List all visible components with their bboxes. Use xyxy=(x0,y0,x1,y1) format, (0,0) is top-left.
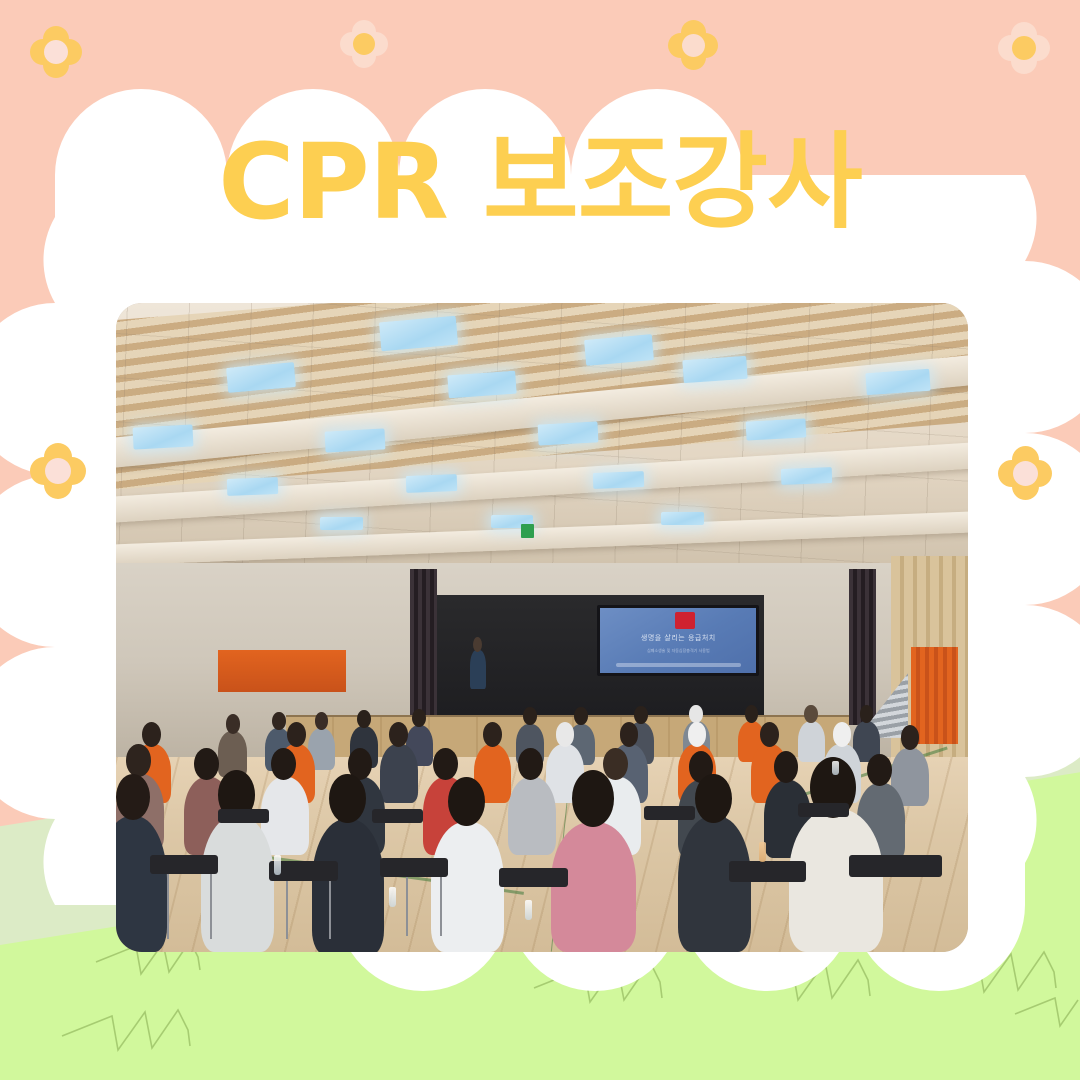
attendee-head xyxy=(433,748,458,780)
cpr-lecture-hall-photo: 생명을 살리는 응급처치 심폐소생술 및 자동심장충격기 사용법 xyxy=(116,303,968,952)
attendee-head xyxy=(329,774,366,823)
poster-canvas: CPR 보조강사 xyxy=(0,0,1080,1080)
flower-center xyxy=(45,458,71,484)
attendee-head xyxy=(833,722,852,747)
flower-center xyxy=(44,40,68,64)
folding-chair xyxy=(372,809,423,823)
attendee xyxy=(508,777,556,855)
attendee-head xyxy=(287,722,306,747)
water-bottle xyxy=(274,855,281,875)
attendee-head xyxy=(116,774,150,821)
attendee xyxy=(380,744,417,802)
attendee-head xyxy=(412,709,426,727)
flower-center xyxy=(1012,36,1036,60)
chair-leg xyxy=(329,881,331,939)
water-bottle xyxy=(525,900,532,920)
skylight-10 xyxy=(746,418,807,441)
screen-subtitle-text: 심폐소생술 및 자동심장충격기 사용법 xyxy=(600,648,756,654)
screen-title-text: 생명을 살리는 응급처치 xyxy=(600,633,756,643)
attendee xyxy=(551,822,636,952)
water-bottle xyxy=(832,761,839,775)
attendee-head xyxy=(804,705,818,723)
chair-leg xyxy=(167,874,169,939)
chair-leg xyxy=(210,874,212,939)
attendee-head xyxy=(634,706,648,724)
orange-wall-panel-right xyxy=(911,647,958,744)
chair-leg xyxy=(440,877,442,935)
flower-top-mid-left xyxy=(340,20,388,68)
page-title: CPR 보조강사 xyxy=(0,126,1080,238)
flower-top-right xyxy=(998,22,1050,74)
skylight-9 xyxy=(537,422,598,446)
attendee-head xyxy=(603,748,628,780)
folding-chair xyxy=(644,806,695,820)
stage-curtain-left xyxy=(410,569,437,725)
folding-chair xyxy=(218,809,269,823)
attendee-head xyxy=(315,712,329,730)
folding-chair xyxy=(150,855,218,874)
attendee-head xyxy=(760,722,779,747)
attendee-head xyxy=(272,712,286,730)
screen-footer-line xyxy=(616,663,741,667)
folding-chair xyxy=(849,855,943,877)
flower-center xyxy=(682,34,705,57)
folding-chair xyxy=(380,858,448,877)
attendee-head xyxy=(518,748,543,780)
flower-right-side xyxy=(998,446,1052,500)
flower-center xyxy=(353,33,375,55)
water-bottle xyxy=(759,842,766,862)
attendee-head xyxy=(448,777,485,826)
skylight-1 xyxy=(379,315,458,350)
skylight-8 xyxy=(324,428,385,452)
attendee xyxy=(678,816,750,952)
emergency-exit-sign xyxy=(521,524,535,538)
folding-chair xyxy=(798,803,849,817)
skylight-12 xyxy=(405,474,457,493)
chair-leg xyxy=(406,877,408,935)
skylight-7 xyxy=(132,425,193,450)
chair-leg xyxy=(286,881,288,939)
stage-curtain-right xyxy=(849,569,876,725)
attendee-head xyxy=(620,722,639,747)
attendee-head xyxy=(556,722,575,747)
attendee xyxy=(798,721,825,763)
attendee-head xyxy=(194,748,219,780)
attendee-head xyxy=(271,748,296,780)
attendee xyxy=(431,822,503,952)
skylight-6 xyxy=(865,369,930,395)
skylight-11 xyxy=(226,477,278,496)
skylight-13 xyxy=(593,471,645,488)
flower-top-left xyxy=(30,26,82,78)
orange-wall-panel-left xyxy=(218,650,346,692)
attendee-head xyxy=(483,722,502,747)
attendee-head xyxy=(689,705,703,723)
attendee xyxy=(312,819,384,952)
screen-logo xyxy=(675,612,695,629)
folding-chair xyxy=(729,861,806,882)
attendee-head xyxy=(126,744,151,776)
folding-chair xyxy=(499,868,567,887)
projector-screen: 생명을 살리는 응급처치 심폐소생술 및 자동심장충격기 사용법 xyxy=(597,605,759,676)
flower-top-mid-right xyxy=(668,20,718,70)
attendee xyxy=(201,816,273,952)
attendee-head xyxy=(357,710,371,728)
skylight-17 xyxy=(661,512,704,525)
attendee-head xyxy=(695,774,732,823)
skylight-14 xyxy=(780,468,832,485)
flower-center xyxy=(1013,461,1038,486)
lecturer-body xyxy=(470,650,486,689)
skylight-15 xyxy=(320,517,363,530)
water-bottle xyxy=(389,887,396,907)
attendee-head xyxy=(142,722,161,747)
flower-left-side xyxy=(30,443,86,499)
skylight-2 xyxy=(584,334,654,366)
